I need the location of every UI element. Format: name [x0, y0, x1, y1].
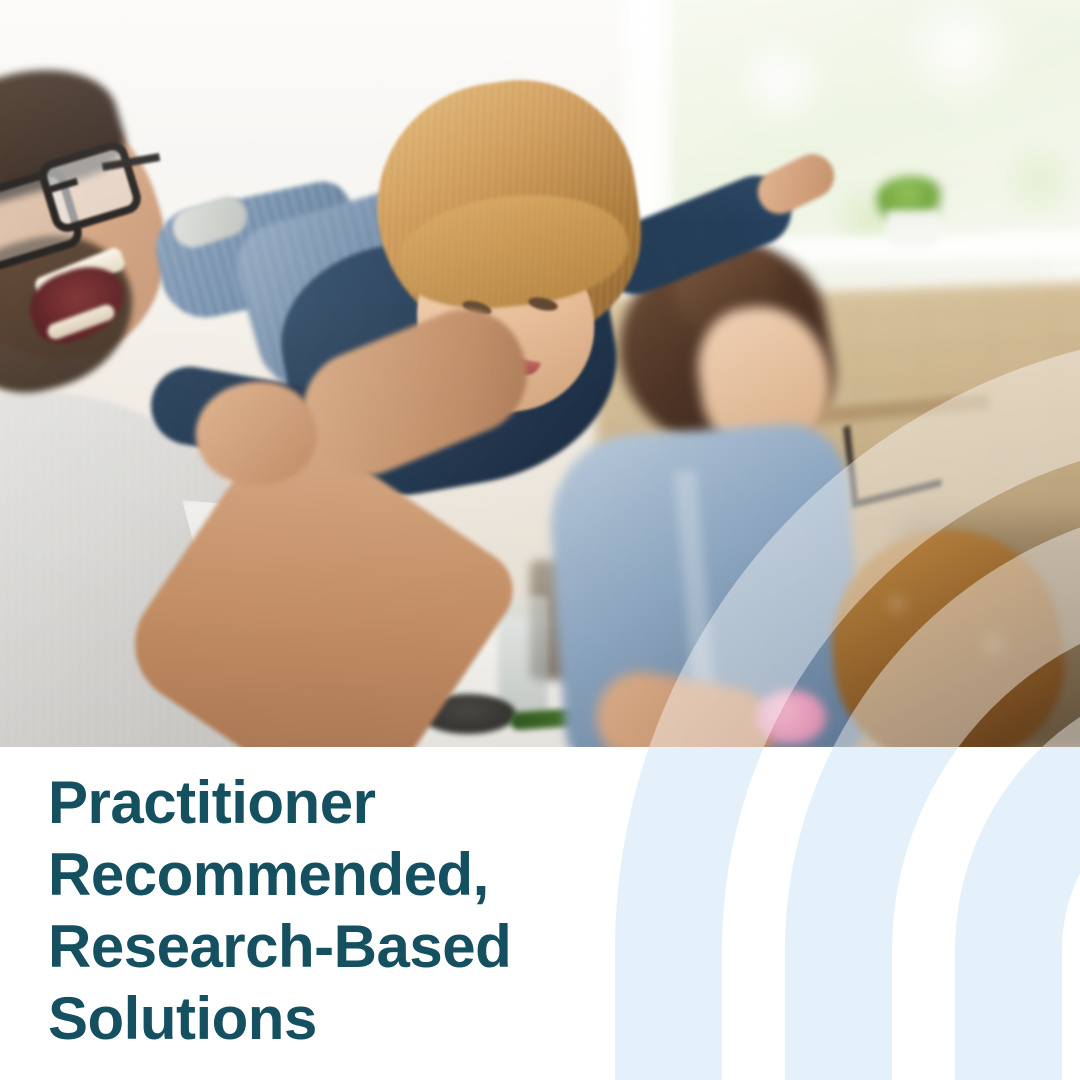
potted-plant-pot	[886, 210, 940, 246]
girl-toy	[756, 690, 826, 744]
hero-photo	[0, 0, 1080, 747]
promo-card-canvas: Practitioner Recommended, Research-Based…	[0, 0, 1080, 1080]
counter-glass	[498, 596, 548, 716]
headline-text: Practitioner Recommended, Research-Based…	[48, 767, 688, 1055]
